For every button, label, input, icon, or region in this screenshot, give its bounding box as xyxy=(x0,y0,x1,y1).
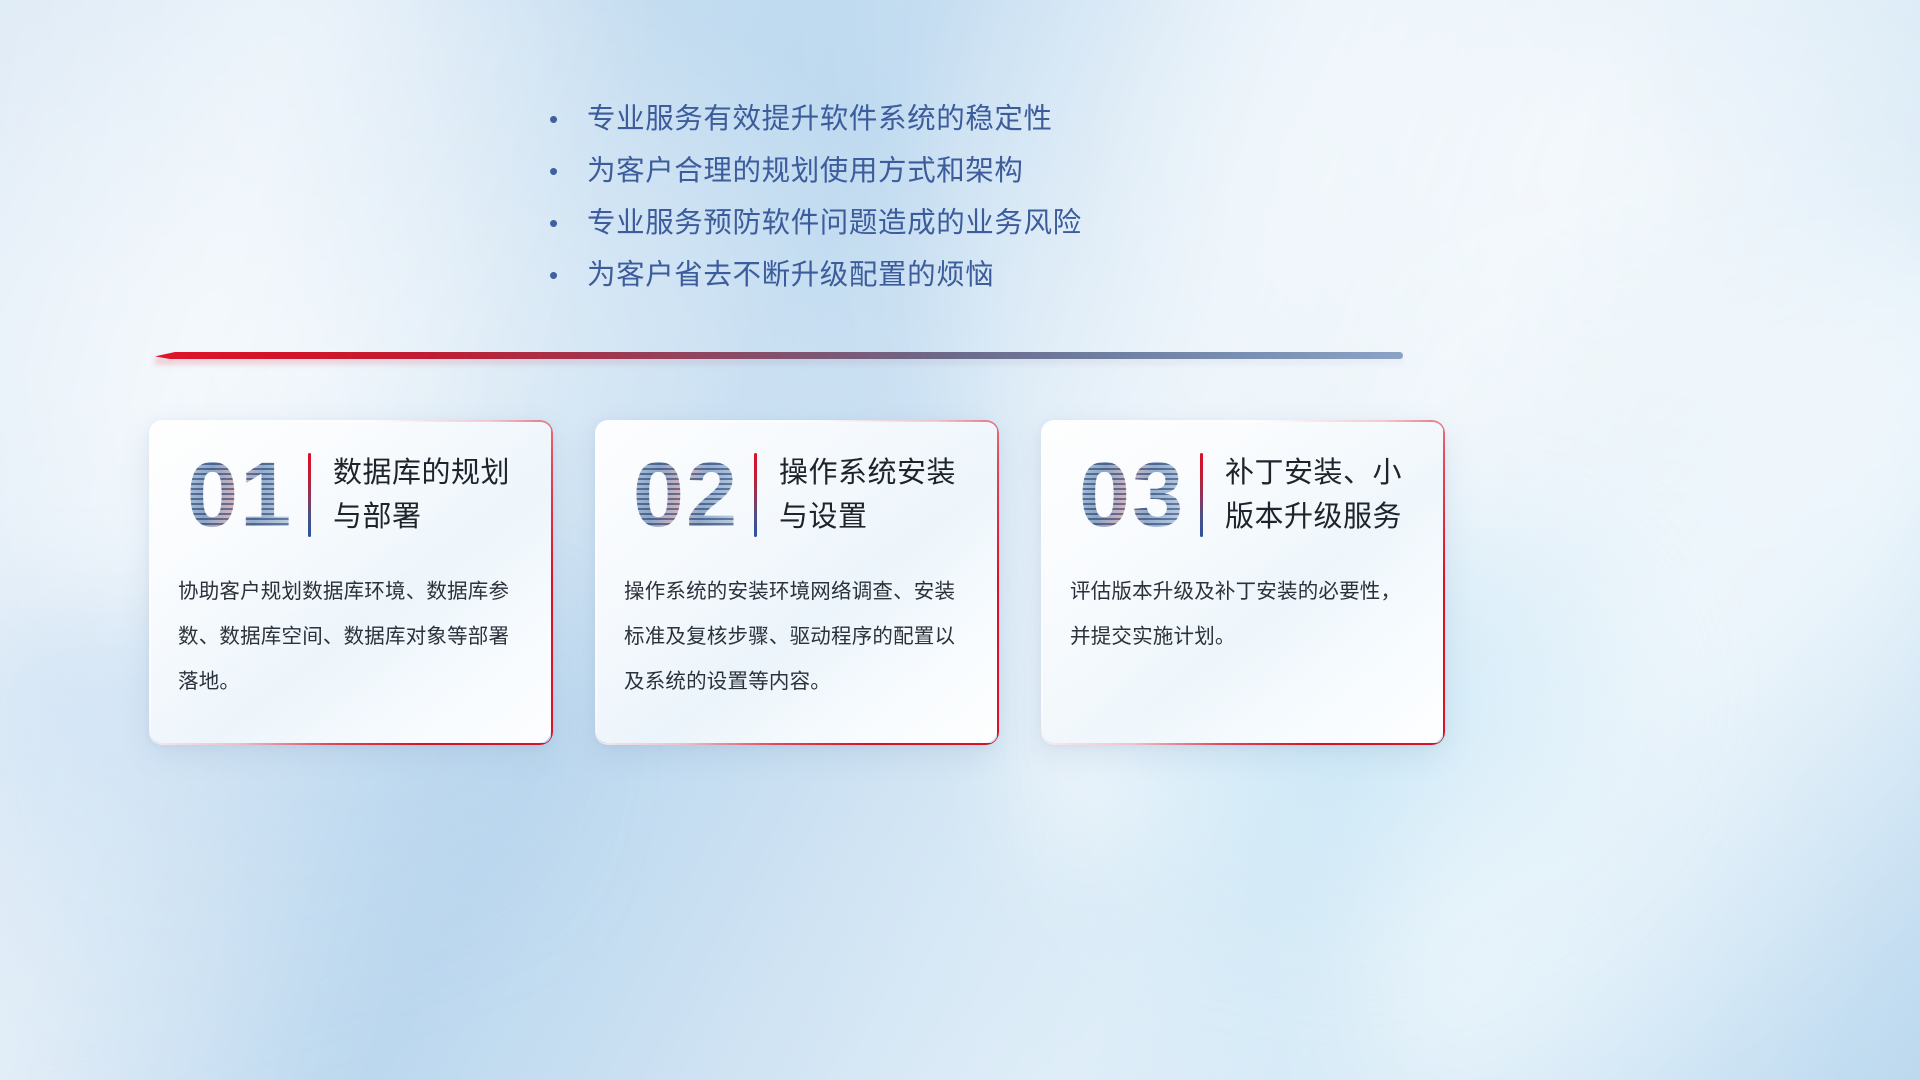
slide-canvas: • 专业服务有效提升软件系统的稳定性 • 为客户合理的规划使用方式和架构 • 专… xyxy=(0,0,1920,1080)
card-number-watermark: 03 xyxy=(1068,443,1196,547)
list-item: • 专业服务有效提升软件系统的稳定性 xyxy=(545,93,1305,145)
list-item: • 为客户合理的规划使用方式和架构 xyxy=(545,145,1305,197)
card-title: 数据库的规划 与部署 xyxy=(333,451,510,539)
list-item: • 专业服务预防软件问题造成的业务风险 xyxy=(545,197,1305,249)
bullet-marker-icon: • xyxy=(545,93,587,145)
card-number-watermark: 02 xyxy=(622,443,750,547)
card-title: 操作系统安装 与设置 xyxy=(779,451,956,539)
service-card-02[interactable]: 02 操作系统安装 与设置 操作系统的安装环境网络调查、安装标准及复核步骤、驱动… xyxy=(596,421,997,743)
bullet-text-4: 为客户省去不断升级配置的烦恼 xyxy=(587,249,994,301)
bullet-marker-icon: • xyxy=(545,249,587,301)
bullet-text-3: 专业服务预防软件问题造成的业务风险 xyxy=(587,197,1082,249)
card-description: 操作系统的安装环境网络调查、安装标准及复核步骤、驱动程序的配置以及系统的设置等内… xyxy=(596,569,997,704)
card-header: 02 操作系统安装 与设置 xyxy=(596,421,997,569)
bullet-marker-icon: • xyxy=(545,145,587,197)
section-divider xyxy=(155,348,1403,364)
service-card-03[interactable]: 03 补丁安装、小 版本升级服务 评估版本升级及补丁安装的必要性，并提交实施计划… xyxy=(1042,421,1443,743)
bullet-marker-icon: • xyxy=(545,197,587,249)
service-card-group: 01 数据库的规划 与部署 协助客户规划数据库环境、数据库参数、数据库空间、数据… xyxy=(150,421,1570,746)
card-accent-rule xyxy=(754,453,757,537)
divider-line xyxy=(155,352,1403,359)
bullet-text-1: 专业服务有效提升软件系统的稳定性 xyxy=(587,93,1053,145)
bullet-text-2: 为客户合理的规划使用方式和架构 xyxy=(587,145,1024,197)
list-item: • 为客户省去不断升级配置的烦恼 xyxy=(545,249,1305,301)
card-header: 01 数据库的规划 与部署 xyxy=(150,421,551,569)
card-accent-rule xyxy=(1200,453,1203,537)
card-header: 03 补丁安装、小 版本升级服务 xyxy=(1042,421,1443,569)
benefits-bullet-list: • 专业服务有效提升软件系统的稳定性 • 为客户合理的规划使用方式和架构 • 专… xyxy=(545,93,1305,301)
card-description: 评估版本升级及补丁安装的必要性，并提交实施计划。 xyxy=(1042,569,1443,659)
card-number-watermark: 01 xyxy=(176,443,304,547)
service-card-01[interactable]: 01 数据库的规划 与部署 协助客户规划数据库环境、数据库参数、数据库空间、数据… xyxy=(150,421,551,743)
card-accent-rule xyxy=(308,453,311,537)
card-description: 协助客户规划数据库环境、数据库参数、数据库空间、数据库对象等部署落地。 xyxy=(150,569,551,704)
card-title: 补丁安装、小 版本升级服务 xyxy=(1225,451,1402,539)
